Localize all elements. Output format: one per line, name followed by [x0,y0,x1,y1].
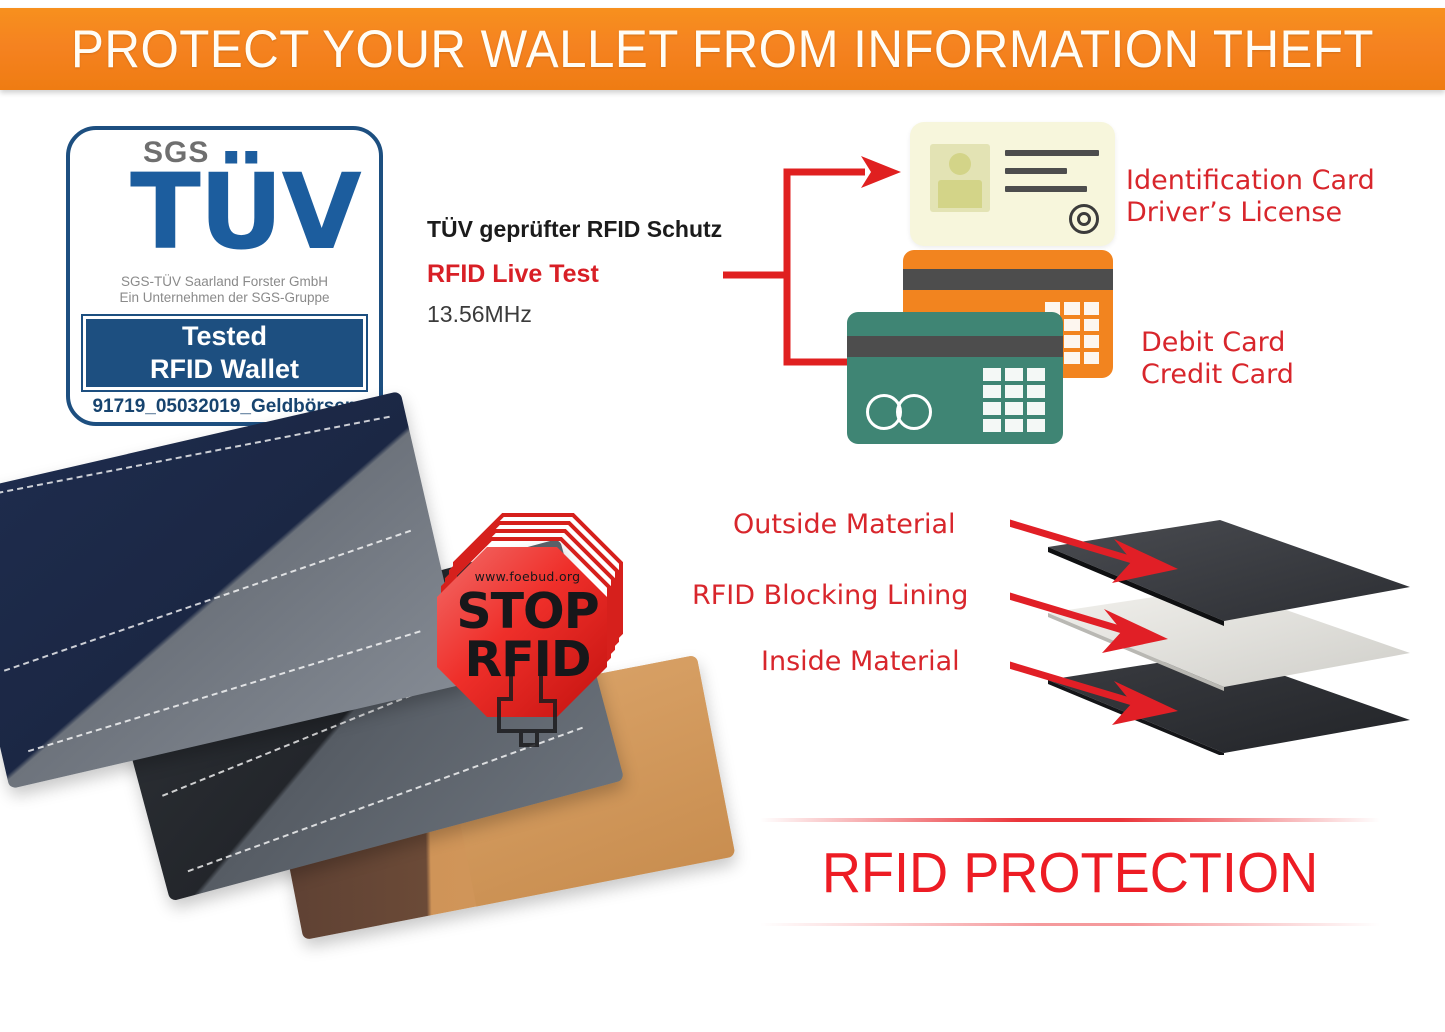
footer-divider-bottom [760,923,1380,926]
infographic-canvas: PROTECT YOUR WALLET FROM INFORMATION THE… [0,0,1445,1032]
card-illustrations [845,122,1135,442]
stop-rfid-line-2: RFID [425,634,630,686]
magnetic-stripe [847,336,1063,357]
stop-rfid-badge: www.foebud.org STOP RFID [425,493,630,765]
tuv-band-line-2: RFID Wallet [150,353,299,386]
id-text-line-2 [1005,168,1067,174]
rfid-blocking-lining-label: RFID Blocking Lining [692,580,968,611]
identification-card-label: Identification Card Driver’s License [1126,165,1375,229]
identification-card-graphic [910,122,1115,246]
rfid-chip-icon [1069,204,1099,234]
card-number-grid [983,368,1045,432]
id-label-line-2: Driver’s License [1126,197,1375,229]
footer-title: RFID PROTECTION [776,840,1365,906]
inside-material-label: Inside Material [761,646,960,677]
tuv-tested-band: Tested RFID Wallet [83,316,366,390]
outside-material-label: Outside Material [733,509,956,540]
wallet-product-photo [0,415,780,1015]
footer-divider-top [760,818,1380,822]
bank-label-line-1: Debit Card [1141,327,1294,359]
id-label-line-1: Identification Card [1126,165,1375,197]
magnetic-stripe [903,269,1113,290]
tuv-company-line-1: SGS-TÜV Saarland Forster GmbH [70,274,379,290]
bank-card-label: Debit Card Credit Card [1141,327,1294,391]
person-body-shape [938,180,982,208]
wallet-stitching [4,530,411,672]
id-text-line-1 [1005,150,1099,156]
tuv-band-line-1: Tested [182,320,267,353]
card-scheme-logo-icon [866,394,934,430]
wallet-stitching [0,416,390,502]
tuv-logo-area: SGS TÜV SGS-TÜV Saarland Forster GmbH Ei… [70,130,379,316]
header-banner: PROTECT YOUR WALLET FROM INFORMATION THE… [0,8,1445,90]
tuv-company-lines: SGS-TÜV Saarland Forster GmbH Ein Untern… [70,274,379,306]
debit-card-graphic [847,312,1063,444]
tuv-certification-badge: SGS TÜV SGS-TÜV Saarland Forster GmbH Ei… [66,126,383,426]
material-layers-diagram [1010,495,1430,755]
id-photo-placeholder [930,144,990,212]
id-text-line-3 [1005,186,1087,192]
person-silhouette-icon [949,153,971,175]
bank-label-line-2: Credit Card [1141,359,1294,391]
tuv-logo-text: TÜV [130,163,360,262]
tuv-company-line-2: Ein Unternehmen der SGS-Gruppe [70,290,379,306]
stop-rfid-url: www.foebud.org [425,569,630,584]
rfid-protection-footer: RFID PROTECTION [760,818,1380,928]
page-title: PROTECT YOUR WALLET FROM INFORMATION THE… [71,19,1374,80]
